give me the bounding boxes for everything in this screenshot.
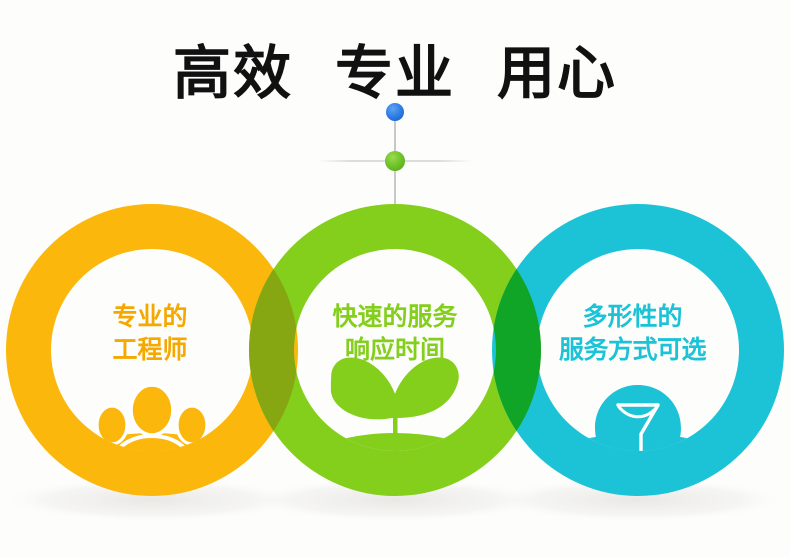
venn-diagram (0, 0, 790, 557)
poster-canvas: 高效专业用心 (0, 0, 790, 557)
